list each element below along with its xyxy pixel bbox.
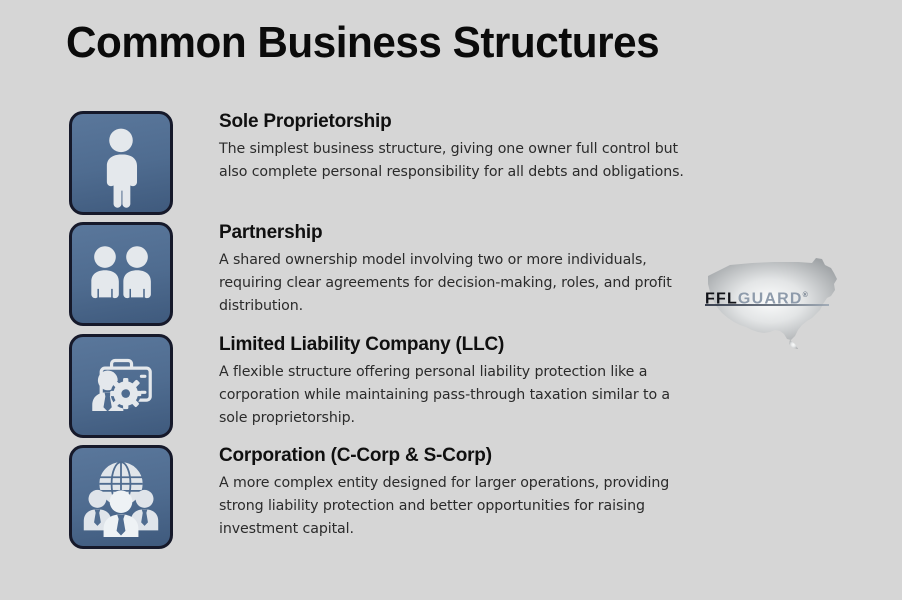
text-column: Corporation (C-Corp & S-Corp) A more com… — [219, 445, 689, 541]
item-description: A more complex entity designed for large… — [219, 472, 689, 541]
text-column: Partnership A shared ownership model inv… — [219, 222, 689, 318]
text-column: Limited Liability Company (LLC) A flexib… — [219, 334, 689, 430]
text-column: Sole Proprietorship The simplest busines… — [219, 111, 689, 184]
item-heading: Partnership — [219, 222, 689, 244]
globe-team-icon — [72, 448, 170, 546]
icon-tile-corporation — [69, 445, 173, 549]
item-heading: Corporation (C-Corp & S-Corp) — [219, 445, 689, 467]
businessperson-briefcase-gear-icon — [72, 337, 170, 435]
two-people-icon — [72, 225, 170, 323]
item-heading: Sole Proprietorship — [219, 111, 689, 133]
infographic-page: Common Business Structures Sole Propriet… — [0, 0, 902, 600]
item-description: A shared ownership model involving two o… — [219, 249, 689, 318]
icon-tile-partnership — [69, 222, 173, 326]
icon-tile-llc — [69, 334, 173, 438]
logo-trademark: ® — [803, 292, 808, 299]
fflguard-logo: FFLGUARD® — [694, 252, 846, 352]
item-description: A flexible structure offering personal l… — [219, 361, 689, 430]
logo-underline — [705, 304, 829, 306]
single-person-icon — [72, 114, 170, 212]
item-heading: Limited Liability Company (LLC) — [219, 334, 689, 356]
logo-wordmark: FFLGUARD® — [705, 286, 835, 306]
item-description: The simplest business structure, giving … — [219, 138, 689, 184]
icon-tile-sole-proprietorship — [69, 111, 173, 215]
